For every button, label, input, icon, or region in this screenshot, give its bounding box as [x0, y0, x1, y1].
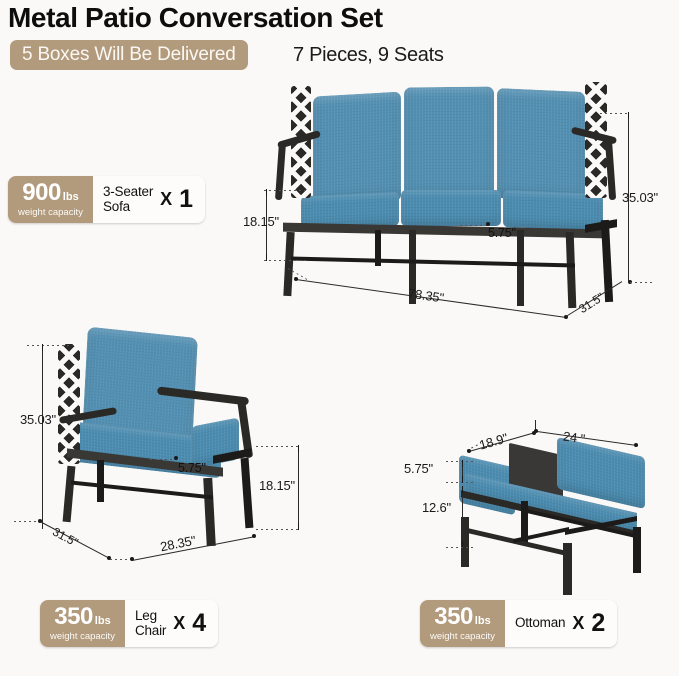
chair-width-dot-left	[130, 557, 134, 561]
sofa-cushion-thickness-label: 5.75"	[488, 226, 516, 240]
sofa-leg-front-left	[283, 232, 294, 296]
chair-width-dot-right	[252, 534, 256, 538]
ottoman-cushion-tick-bottom	[462, 476, 463, 483]
ottoman-cushion-tick-top	[462, 460, 463, 467]
sofa-product-name: 3-Seater Sofa	[103, 185, 153, 214]
sofa-capacity-badge: 900 lbs weight capacity 3-Seater Sofa X …	[8, 176, 205, 223]
chair-leg-front-right	[203, 478, 216, 546]
sofa-leg-front-right	[566, 232, 577, 308]
chair-seat-bottom-guide	[256, 529, 300, 530]
chair-seat-tick-bottom	[298, 523, 299, 530]
ottoman-depth-dot-left	[467, 449, 471, 453]
ottoman-product-name: Ottoman	[515, 616, 565, 631]
sofa-seat-height-tick-top	[266, 189, 267, 196]
sofa-product-name-line2: Sofa	[103, 200, 153, 215]
ottoman-cushion-top-guide	[446, 461, 474, 462]
chair-capacity-value: 350	[54, 605, 93, 629]
sofa-back-cushion-left	[313, 92, 401, 205]
sofa-height-label: 35.03"	[622, 190, 658, 205]
ottoman-frame-tick-top	[462, 486, 463, 493]
chair-depth-guide	[14, 521, 40, 522]
chair-seat-height-label: 18.15"	[259, 478, 295, 493]
pieces-seats-label: 7 Pieces, 9 Seats	[293, 44, 444, 67]
ottoman-width-dot-left	[534, 429, 538, 433]
page-title: Metal Patio Conversation Set	[8, 2, 383, 34]
ottoman-capacity-right: Ottoman X 2	[505, 600, 617, 647]
chair-product-name-line1: Leg	[135, 609, 166, 624]
ottoman-capacity-value: 350	[434, 605, 473, 629]
sofa-height-tick-top	[628, 112, 629, 119]
ottoman-capacity-left: 350 lbs weight capacity	[420, 600, 505, 647]
sofa-cushion-guide	[460, 225, 488, 226]
ottoman-frame-height-line	[462, 486, 463, 548]
chair-width-guide-left	[110, 559, 132, 560]
sofa-height-top-guide	[600, 113, 630, 114]
chair-seat-top-guide	[256, 446, 300, 447]
sofa-seat-height-label: 18.15"	[243, 214, 279, 229]
sofa-back-cushion-right	[497, 88, 585, 202]
chair-cushion-dot	[174, 456, 178, 460]
sofa-capacity-caption: weight capacity	[18, 207, 83, 218]
sofa-cushion-dot	[486, 222, 490, 226]
sofa-illustration	[255, 80, 655, 320]
sofa-stretcher	[291, 257, 575, 268]
chair-cushion-thickness-label: 5.75"	[178, 461, 206, 475]
sofa-width-dot-left	[294, 277, 298, 281]
sofa-leg-mid-right	[517, 230, 524, 306]
ottoman-quantity: 2	[591, 611, 605, 636]
chair-height-tick-top	[42, 344, 43, 351]
ottoman-multiplier: X	[572, 613, 584, 634]
sofa-quantity: 1	[179, 187, 193, 212]
ottoman-capacity-unit: lbs	[475, 615, 491, 627]
chair-capacity-right: Leg Chair X 4	[125, 600, 218, 647]
sofa-back-cushion-mid	[404, 87, 494, 200]
chair-stretcher	[71, 481, 213, 500]
sofa-seat-height-tick-bottom	[266, 254, 267, 261]
sofa-seat-top-guide	[264, 190, 306, 191]
ottoman-cushion-bottom-guide	[446, 482, 474, 483]
chair-capacity-caption: weight capacity	[50, 631, 115, 642]
chair-leg-front-left	[63, 466, 76, 522]
sofa-product-name-line1: 3-Seater	[103, 185, 153, 200]
ottoman-product-name-line1: Ottoman	[515, 616, 565, 631]
chair-product-name: Leg Chair	[135, 609, 166, 638]
ottoman-capacity-caption: weight capacity	[430, 631, 495, 642]
ottoman-illustration	[455, 445, 655, 565]
ottoman-frame-height-label: 12.6"	[422, 500, 451, 515]
ottoman-frame-bottom-guide	[446, 547, 474, 548]
ottoman-width-dot-right	[634, 443, 638, 447]
chair-seat-height-line	[298, 446, 299, 530]
boxes-delivered-label: 5 Boxes Will Be Delivered	[22, 44, 236, 66]
ottoman-cushion-thickness-label: 5.75"	[404, 461, 433, 476]
sofa-capacity-value: 900	[22, 181, 61, 205]
product-infographic: Metal Patio Conversation Set 5 Boxes Wil…	[0, 0, 679, 676]
chair-seat-tick-top	[298, 445, 299, 452]
sofa-capacity-unit: lbs	[63, 191, 79, 203]
chair-height-line	[42, 345, 43, 529]
sofa-multiplier: X	[160, 189, 172, 210]
chair-height-top-guide	[27, 345, 69, 346]
sofa-depth-guide	[630, 282, 652, 283]
sofa-capacity-right: 3-Seater Sofa X 1	[93, 176, 205, 223]
boxes-delivered-badge: 5 Boxes Will Be Delivered	[10, 40, 248, 70]
chair-leg-back-right	[241, 458, 254, 528]
chair-capacity-badge: 350 lbs weight capacity Leg Chair X 4	[40, 600, 218, 647]
chair-height-label: 35.03"	[20, 412, 56, 427]
ottoman-width-label: 24 "	[562, 429, 586, 447]
chair-quantity: 4	[192, 611, 206, 636]
chair-lattice-panel	[58, 344, 80, 464]
chair-product-name-line2: Chair	[135, 624, 166, 639]
sofa-left-arm-post	[275, 142, 286, 200]
sofa-capacity-left: 900 lbs weight capacity	[8, 176, 93, 223]
ottoman-capacity-badge: 350 lbs weight capacity Ottoman X 2	[420, 600, 617, 647]
chair-leg-back-left	[97, 460, 104, 502]
sofa-seat-bottom-guide	[264, 260, 308, 261]
chair-capacity-unit: lbs	[95, 615, 111, 627]
chair-cushion-guide	[150, 459, 176, 460]
chair-capacity-left: 350 lbs weight capacity	[40, 600, 125, 647]
sofa-seat-cushion-mid	[401, 190, 501, 226]
chair-multiplier: X	[173, 613, 185, 634]
